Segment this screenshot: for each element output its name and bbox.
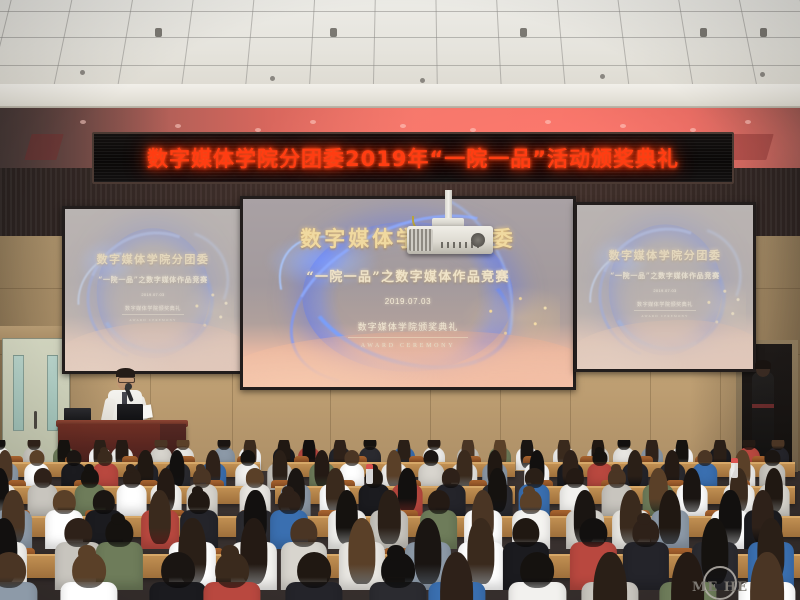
audience-member-head (512, 518, 539, 547)
ceiling-grid-line (554, 0, 567, 88)
ceiling-speaker-fixture (700, 28, 707, 37)
ceiling-grid-line (495, 0, 503, 88)
slide-organization: 数字媒体学院颁奖典礼 (358, 320, 459, 333)
audience-member-head (149, 490, 171, 544)
ceiling-downlight (310, 120, 316, 124)
audience-member-head (161, 552, 195, 588)
audience-member-hair-bun (192, 486, 204, 496)
ceiling-downlight (545, 120, 551, 124)
audience-member-hair-bun (595, 447, 603, 454)
ceiling-light-fixture (420, 78, 425, 83)
slide-subtitle: “一院一品”之数字媒体作品竞赛 (306, 266, 509, 285)
audience-member-head (441, 468, 459, 488)
audience-member (428, 552, 485, 600)
led-banner-text: 数字媒体学院分团委2019年“一院一品”活动颁奖典礼 (147, 143, 679, 173)
water-bottle (366, 464, 373, 484)
ceiling-grid-line (733, 0, 760, 88)
audience-member (286, 552, 343, 600)
right-projection-screen: 数字媒体学院分团委 “一院一品”之数字媒体作品竞赛 2019.07.03 数字媒… (574, 202, 756, 372)
foreground-tshirt-graphic: ME HE (690, 558, 750, 600)
audience-member (370, 552, 427, 600)
ceiling-grid-line (614, 0, 631, 88)
audience-member-head (424, 450, 439, 466)
main-projection-screen: 数字媒体学院分团委 “一院一品”之数字媒体作品竞赛 2019.07.03 数字媒… (240, 196, 576, 390)
lecture-hall-photo: 数字媒体学院分团委2019年“一院一品”活动颁奖典礼 数字媒体学院分团委 “一院… (0, 0, 800, 600)
audience-member-head (580, 518, 607, 547)
ceiling-light-fixture (600, 74, 605, 79)
ceiling-light-fixture (270, 76, 275, 81)
microphone-head-icon (125, 383, 132, 390)
ceiling-speaker-fixture (520, 28, 527, 37)
audience-member-hair-bun (611, 464, 620, 472)
led-banner: 数字媒体学院分团委2019年“一院一品”活动颁奖典礼 (92, 132, 734, 184)
audience-member-head (765, 450, 780, 466)
ceiling-grid-line (792, 0, 800, 88)
audience-member-head (593, 552, 627, 600)
audience-member-hair-bun (78, 545, 96, 560)
audience-member-head (240, 450, 255, 466)
audience-member-head (750, 552, 784, 600)
tshirt-logo-text: ME HE (692, 580, 748, 595)
audience-member-hair-bun (523, 486, 535, 496)
ceiling-grid-line (244, 0, 257, 88)
audience-member-head (246, 468, 264, 488)
ceiling (0, 0, 800, 88)
slide-date: 2019.07.03 (385, 297, 431, 306)
slide-english-caption: AWARD CEREMONY (361, 343, 456, 349)
audience-member-head (53, 490, 75, 514)
left-screen-washout (65, 209, 241, 371)
ceiling-downlight (175, 124, 181, 128)
ceiling-speaker-fixture (330, 28, 337, 37)
audience-member (509, 552, 566, 600)
audience-member-head (297, 552, 331, 588)
left-projection-screen: 数字媒体学院分团委 “一院一品”之数字媒体作品竞赛 2019.07.03 数字媒… (62, 206, 244, 374)
door-handle-icon[interactable] (34, 411, 37, 429)
projector-lens-icon (471, 233, 485, 247)
ceiling-grid-line (435, 0, 438, 88)
ceiling-grid-line (0, 37, 800, 38)
audience-member-hair-bun (111, 513, 125, 525)
ceiling-downlight (400, 124, 406, 128)
standing-attendant-hair (755, 360, 771, 369)
audience-member-hair-bun (196, 464, 205, 472)
ceiling-grid-line (673, 0, 695, 88)
audience-member-head (66, 450, 81, 466)
audience-member-hair-bun (126, 464, 135, 472)
audience-member-head (440, 552, 474, 600)
door-glass-panel-left (13, 355, 24, 431)
audience-member-head (565, 468, 583, 488)
audience-member-hair-bun (221, 545, 239, 560)
slide-divider (348, 337, 468, 338)
audience-member-head (520, 552, 554, 588)
audience-member-head (427, 490, 449, 514)
ceiling-grid-line (373, 0, 377, 88)
ceiling-light-fixture (760, 72, 765, 77)
ceiling-projector (407, 226, 493, 254)
ceiling-grid-line (0, 0, 19, 88)
audience-member (61, 552, 118, 600)
projector-vent (409, 229, 433, 251)
right-screen-washout (577, 205, 753, 369)
ceiling-speaker-fixture (155, 28, 162, 37)
ceiling-grid-line (115, 0, 138, 88)
speaker-glasses-icon (118, 377, 135, 383)
ceiling-light-fixture (80, 70, 85, 75)
ceiling-grid-line (179, 0, 197, 88)
audience-member-head (33, 468, 51, 488)
audience-member-head (93, 490, 115, 514)
speaker-hair (116, 368, 135, 377)
audience-member-head (0, 552, 26, 588)
standing-attendant-belt (752, 404, 774, 408)
audience-member (204, 552, 261, 600)
audience-member (150, 552, 207, 600)
audience-member-hair-bun (100, 447, 108, 454)
audience-member-head (29, 450, 44, 466)
audience-member-hair-bun (84, 464, 93, 472)
ceiling-grid-line (50, 0, 78, 88)
audience-seating-area: ME HE (0, 440, 800, 600)
ceiling-downlight (620, 124, 626, 128)
ceiling-downlight (745, 120, 751, 124)
ceiling-speaker-fixture (760, 28, 767, 37)
audience-member (0, 552, 37, 600)
audience-member-head (65, 518, 92, 547)
audience-member-head (697, 450, 712, 466)
ceiling-grid (0, 0, 800, 88)
audience-member-head (290, 518, 317, 547)
audience-member-head (525, 468, 543, 488)
audience-member-head (344, 450, 359, 466)
ceiling-grid-line (308, 0, 317, 88)
audience-member (581, 552, 638, 600)
audience-member-hair-bun (282, 486, 294, 496)
ceiling-downlight (80, 120, 86, 124)
audience-member-hair-bun (387, 545, 405, 560)
water-bottle (731, 458, 738, 478)
